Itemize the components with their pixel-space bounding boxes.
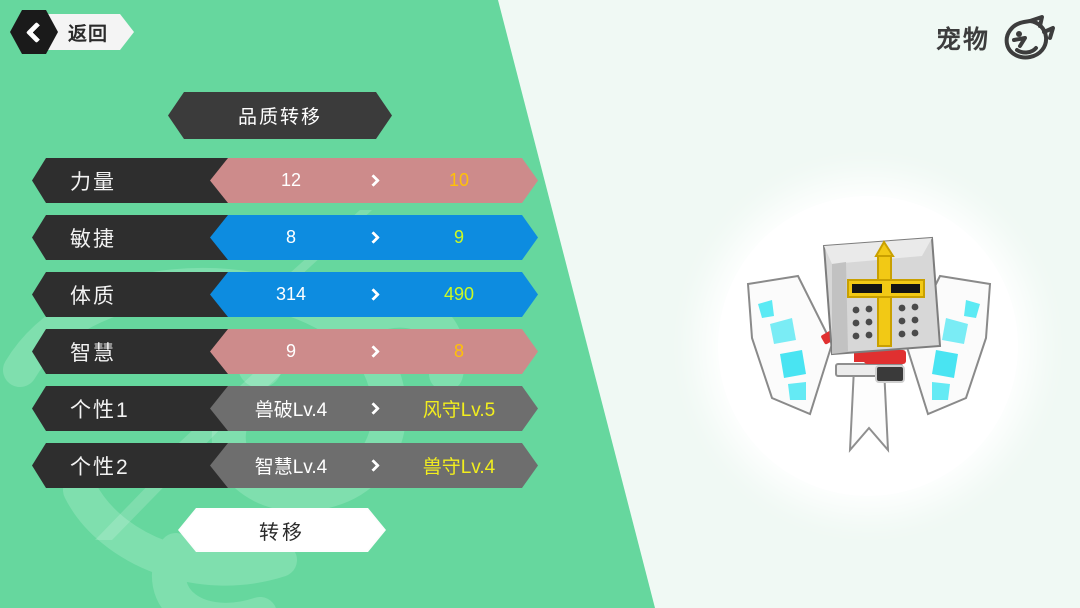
- chevron-right-icon: [358, 404, 392, 413]
- stat-new-value: 490: [392, 284, 538, 305]
- stat-value-panel: 314490: [210, 272, 538, 317]
- stat-new-value: 9: [392, 227, 538, 248]
- stat-label: 力量: [70, 166, 116, 196]
- stat-label-panel: 敏捷: [32, 215, 228, 260]
- game-screen: 返回 宠物 品质转移 力量1210敏捷89体质314490智慧98个性1兽破Lv…: [0, 0, 1080, 608]
- back-button-label: 返回: [68, 19, 108, 46]
- chevron-right-icon: [358, 233, 392, 242]
- pet-header: 宠物: [936, 14, 1056, 62]
- stat-old-value: 兽破Lv.4: [210, 395, 358, 422]
- stat-row[interactable]: 个性1兽破Lv.4风守Lv.5: [32, 386, 538, 431]
- chevron-right-icon: [358, 347, 392, 356]
- pet-display-stage: [718, 196, 1018, 496]
- stat-label-panel: 个性2: [32, 443, 228, 488]
- chevron-left-icon: [26, 21, 47, 42]
- stat-new-value: 风守Lv.5: [392, 395, 538, 422]
- chevron-right-icon: [358, 290, 392, 299]
- back-label-banner[interactable]: 返回: [48, 14, 134, 50]
- stat-old-value: 12: [210, 170, 358, 191]
- stat-value-panel: 1210: [210, 158, 538, 203]
- stat-old-value: 9: [210, 341, 358, 362]
- stat-old-value: 314: [210, 284, 358, 305]
- stat-label: 体质: [70, 280, 116, 310]
- stat-label: 个性2: [70, 451, 130, 481]
- stat-new-value: 10: [392, 170, 538, 191]
- chevron-right-icon: [358, 176, 392, 185]
- stat-value-panel: 89: [210, 215, 538, 260]
- stat-value-panel: 兽破Lv.4风守Lv.5: [210, 386, 538, 431]
- stat-row[interactable]: 个性2智慧Lv.4兽守Lv.4: [32, 443, 538, 488]
- stat-label-panel: 体质: [32, 272, 228, 317]
- page-title: 宠物: [936, 20, 990, 56]
- stat-value-panel: 98: [210, 329, 538, 374]
- stat-old-value: 8: [210, 227, 358, 248]
- section-title: 品质转移: [238, 102, 322, 129]
- stat-value-panel: 智慧Lv.4兽守Lv.4: [210, 443, 538, 488]
- stat-row[interactable]: 体质314490: [32, 272, 538, 317]
- stat-label-panel: 个性1: [32, 386, 228, 431]
- stat-label-panel: 智慧: [32, 329, 228, 374]
- transfer-button-outline[interactable]: [178, 508, 386, 552]
- stat-old-value: 智慧Lv.4: [210, 452, 358, 479]
- pet-avatar[interactable]: [736, 218, 1002, 474]
- stat-row[interactable]: 力量1210: [32, 158, 538, 203]
- stat-row[interactable]: 敏捷89: [32, 215, 538, 260]
- section-title-banner: 品质转移: [168, 92, 392, 139]
- stat-new-value: 兽守Lv.4: [392, 452, 538, 479]
- back-button[interactable]: 返回: [10, 10, 134, 54]
- stat-label: 敏捷: [70, 223, 116, 253]
- chevron-right-icon: [358, 461, 392, 470]
- stat-list: 力量1210敏捷89体质314490智慧98个性1兽破Lv.4风守Lv.5个性2…: [32, 158, 538, 500]
- stat-label: 智慧: [70, 337, 116, 367]
- stat-new-value: 8: [392, 341, 538, 362]
- dragon-head-icon: [1000, 14, 1056, 62]
- stat-row[interactable]: 智慧98: [32, 329, 538, 374]
- stat-label: 个性1: [70, 394, 130, 424]
- stat-label-panel: 力量: [32, 158, 228, 203]
